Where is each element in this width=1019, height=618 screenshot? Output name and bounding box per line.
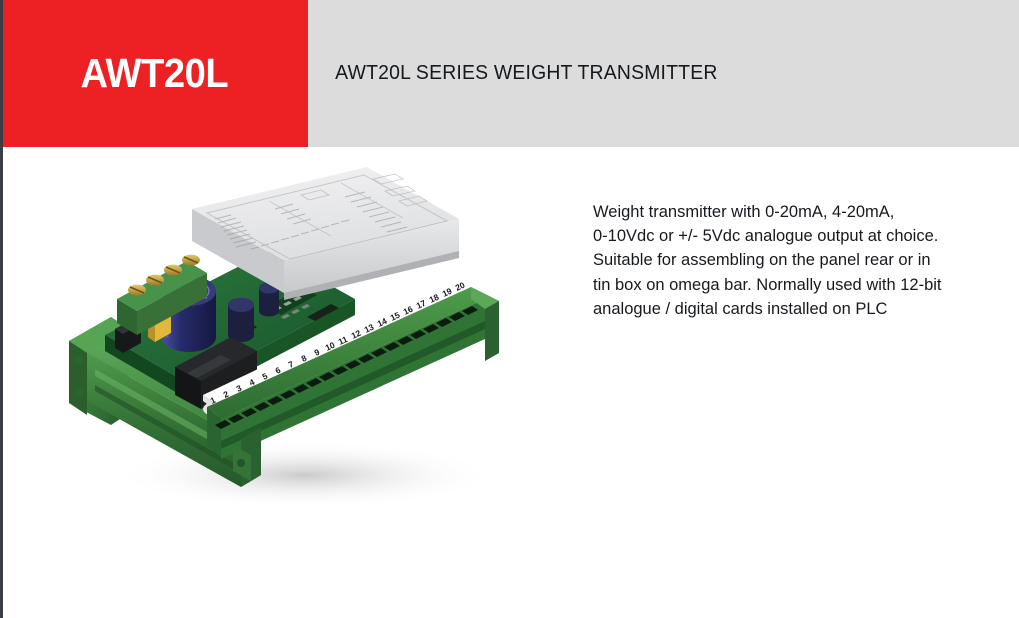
page-header: AWT20L AWT20L SERIES WEIGHT TRANSMITTER: [0, 0, 1019, 147]
description-line: tin box on omega bar. Normally used with…: [593, 273, 993, 297]
description-line: Suitable for assembling on the panel rea…: [593, 248, 993, 272]
product-illustration: 1 2 3 4 5 6 7 8 9 10 11 12 13: [55, 157, 535, 527]
product-badge: AWT20L: [0, 0, 308, 147]
product-description: Weight transmitter with 0-20mA, 4-20mA, …: [593, 200, 993, 321]
product-datasheet-page: AWT20L AWT20L SERIES WEIGHT TRANSMITTER: [0, 0, 1019, 618]
page-title: AWT20L SERIES WEIGHT TRANSMITTER: [308, 62, 718, 85]
page-left-rule: [0, 0, 3, 618]
product-shadow: [115, 441, 495, 509]
product-badge-label: AWT20L: [80, 50, 228, 97]
description-line: Weight transmitter with 0-20mA, 4-20mA,: [593, 200, 993, 224]
header-title-strip: AWT20L SERIES WEIGHT TRANSMITTER: [308, 0, 1019, 147]
page-content: 1 2 3 4 5 6 7 8 9 10 11 12 13: [0, 147, 1019, 618]
description-line: analogue / digital cards installed on PL…: [593, 297, 993, 321]
description-line: 0-10Vdc or +/- 5Vdc analogue output at c…: [593, 224, 993, 248]
secondary-capacitor: [228, 298, 254, 342]
product-photo: 1 2 3 4 5 6 7 8 9 10 11 12 13: [55, 157, 535, 527]
